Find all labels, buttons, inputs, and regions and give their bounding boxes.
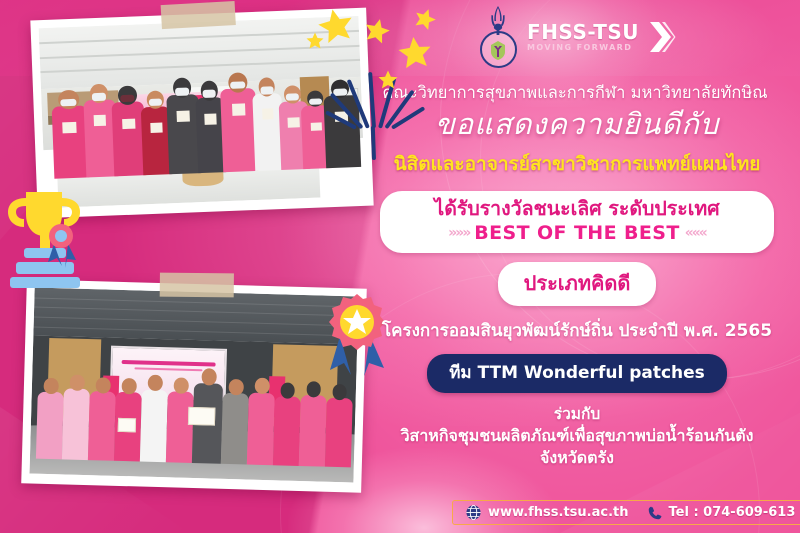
star-icon xyxy=(378,70,398,90)
chevron-right-icon xyxy=(648,20,676,54)
website-text: www.fhss.tsu.ac.th xyxy=(488,505,629,520)
team-name: ทีม TTM Wonderful patches xyxy=(449,363,705,383)
logo-sub-text: MOVING FORWARD xyxy=(527,44,639,52)
phone-icon xyxy=(647,505,663,521)
message-column: ขอแสดงความยินดีกับ นิสิตและอาจารย์สาขาวิ… xyxy=(358,108,796,470)
star-icon xyxy=(414,8,436,30)
seal-crown-icon xyxy=(488,6,508,36)
award-pill: ได้รับรางวัลชนะเลิศ ระดับประเทศ »»» BEST… xyxy=(380,191,774,252)
partner-name: วิสาหกิจชุมชนผลิตภัณฑ์เพื่อสุขภาพบ่อน้ำร… xyxy=(358,425,796,448)
province-name: จังหวัดตรัง xyxy=(358,447,796,470)
chevron-left-decor: »»» xyxy=(448,225,469,242)
seal-ring xyxy=(480,31,517,68)
photo-tape xyxy=(160,273,234,298)
best-of-the-best-text: BEST OF THE BEST xyxy=(474,222,679,245)
logo-wordmark: FHSS-TSU MOVING FORWARD xyxy=(527,22,639,52)
photo-tape xyxy=(161,1,236,29)
award-line-2: »»» BEST OF THE BEST ««« xyxy=(396,222,758,245)
trophy-icon xyxy=(4,186,90,292)
logo-main-text: FHSS-TSU xyxy=(527,22,639,42)
award-ceremony-photo xyxy=(21,279,367,492)
project-name: โครงการออมสินยุวพัฒน์รักษ์ถิ่น ประจำปี พ… xyxy=(358,317,796,344)
fhss-tsu-logo: FHSS-TSU MOVING FORWARD xyxy=(476,6,676,68)
congratulations-poster: FHSS-TSU MOVING FORWARD คณะวิทยาการสุขภา… xyxy=(0,0,800,533)
team-pill: ทีม TTM Wonderful patches xyxy=(427,354,727,393)
tsu-seal-icon xyxy=(476,6,520,68)
chevron-right-decor: ««« xyxy=(685,225,706,242)
with-label: ร่วมกับ xyxy=(358,403,796,425)
star-icon xyxy=(364,18,390,44)
category-pill: ประเภทคิดดี xyxy=(498,262,657,306)
photo-image xyxy=(29,288,358,483)
star-icon xyxy=(398,36,432,70)
globe-icon xyxy=(465,504,482,521)
congratulations-script: ขอแสดงความยินดีกับ xyxy=(358,108,796,141)
category-text: ประเภทคิดดี xyxy=(524,271,631,295)
recipients-line: นิสิตและอาจารย์สาขาวิชาการแพทย์แผนไทย xyxy=(358,149,796,179)
phone-text: Tel : 074-609-613 xyxy=(669,505,796,520)
star-icon xyxy=(306,32,324,50)
contact-bar: www.fhss.tsu.ac.th Tel : 074-609-613 xyxy=(452,500,800,525)
phone-item[interactable]: Tel : 074-609-613 xyxy=(647,505,796,521)
seal-emblem-icon xyxy=(486,38,510,62)
award-line-1: ได้รับรางวัลชนะเลิศ ระดับประเทศ xyxy=(396,197,758,221)
website-item[interactable]: www.fhss.tsu.ac.th xyxy=(465,504,629,521)
